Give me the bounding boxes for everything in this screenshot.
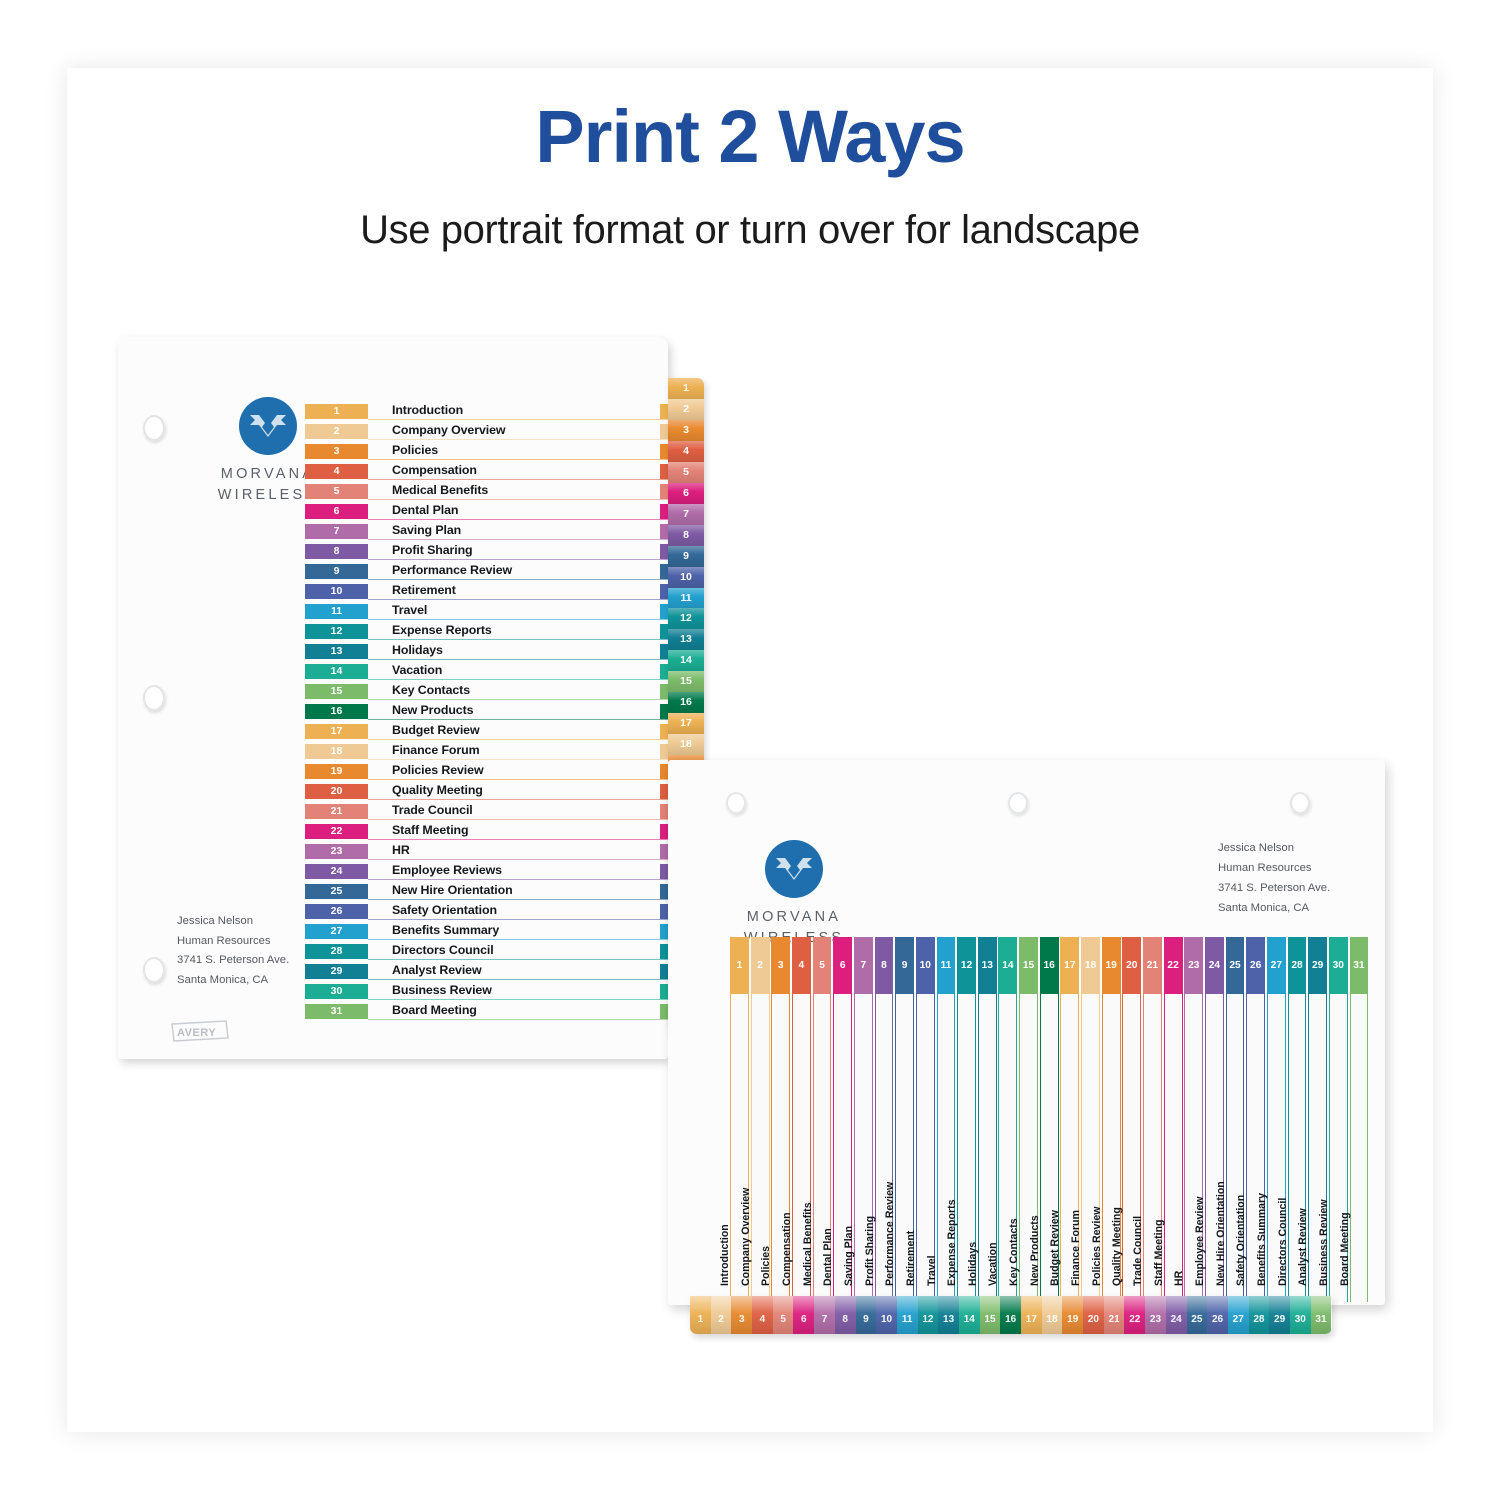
landscape-bottom-tab: 2 [711,1296,732,1334]
landscape-bottom-tab: 23 [1145,1296,1166,1334]
landscape-bottom-tab: 21 [1104,1296,1125,1334]
portrait-tab-number: 17 [680,717,692,729]
toc-row: 12Expense Reports [305,622,668,642]
toc-number-chip: 12 [305,624,368,639]
landscape-tab-label: Performance Review [884,982,896,1290]
toc-row: 28Directors Council [305,942,668,962]
landscape-bottom-tab: 11 [897,1296,918,1334]
portrait-tab: 4 [668,441,704,462]
landscape-bottom-tab: 29 [1269,1296,1290,1334]
landscape-bottom-tab: 26 [1207,1296,1228,1334]
toc-label: Medical Benefits [392,483,488,497]
contact-name: Jessica Nelson [1218,838,1330,858]
toc-number-chip: 13 [305,644,368,659]
portrait-tab: 13 [668,629,704,650]
toc-number-chip: 16 [305,704,368,719]
toc-label: Dental Plan [392,503,458,517]
toc-row: 13Holidays [305,642,668,662]
toc-number-chip: 19 [305,764,368,779]
landscape-bottom-tab-number: 25 [1191,1314,1202,1325]
landscape-bottom-tab: 30 [1290,1296,1311,1334]
toc-rule [368,539,668,540]
landscape-bottom-tab-number: 20 [1088,1314,1099,1325]
portrait-tab-number: 9 [683,550,689,562]
landscape-bottom-tab: 31 [1311,1296,1332,1334]
toc-rule [368,439,668,440]
landscape-bottom-tab-number: 11 [902,1314,913,1325]
landscape-tab-label: Company Overview [740,982,752,1290]
toc-rule [368,519,668,520]
portrait-tab-number: 10 [680,571,692,583]
landscape-tab-label: Board Meeting [1339,982,1351,1290]
toc-row: 17Budget Review [305,722,668,742]
landscape-tab-column: 31Board Meeting [1350,937,1369,1302]
landscape-tab-label: Key Contacts [1008,982,1020,1290]
toc-row: 18Finance Forum [305,742,668,762]
landscape-tab-label: Finance Forum [1070,982,1082,1290]
toc-rule [368,939,668,940]
toc-label: Quality Meeting [392,783,483,797]
toc-number-chip: 5 [305,484,368,499]
portrait-tab-number: 2 [683,403,689,415]
toc-rule [368,679,668,680]
toc-row: 10Retirement [305,582,668,602]
landscape-tab-label: Policies [760,982,772,1290]
landscape-bottom-tab-number: 9 [863,1314,869,1325]
landscape-bottom-tab-number: 23 [1150,1314,1161,1325]
toc-row: 26Safety Orientation [305,902,668,922]
toc-label: Analyst Review [392,963,482,977]
landscape-bottom-tab-number: 16 [1005,1314,1016,1325]
toc-label: Employee Reviews [392,863,502,877]
toc-label: Introduction [392,403,463,417]
landscape-bottom-tab: 7 [814,1296,835,1334]
landscape-tab-label: Staff Meeting [1153,982,1165,1290]
toc-rule [368,619,668,620]
portrait-tab: 2 [668,399,704,420]
toc-rule [368,919,668,920]
toc-number-chip: 29 [305,964,368,979]
toc-label: Directors Council [392,943,494,957]
landscape-tab-label: New Hire Orientation [1215,982,1227,1290]
toc-label: Performance Review [392,563,512,577]
landscape-bottom-tab-number: 30 [1295,1314,1306,1325]
landscape-tab-label: Dental Plan [822,982,834,1290]
toc-number-chip: 3 [305,444,368,459]
portrait-tab: 14 [668,650,704,671]
landscape-bottom-tab: 13 [938,1296,959,1334]
toc-number-chip: 14 [305,664,368,679]
morvana-logo-icon [239,397,297,455]
toc-rule [368,839,668,840]
landscape-bottom-tab: 4 [752,1296,773,1334]
landscape-tab-label: Saving Plan [843,982,855,1290]
landscape-tab-label: HR [1173,982,1185,1290]
portrait-tab-number: 7 [683,508,689,520]
toc-label: Safety Orientation [392,903,497,917]
toc-label: Vacation [392,663,442,677]
landscape-bottom-tab: 16 [1000,1296,1021,1334]
toc-label: Trade Council [392,803,473,817]
landscape-bottom-tab: 18 [1042,1296,1063,1334]
toc-label: Finance Forum [392,743,480,757]
landscape-bottom-tab: 17 [1021,1296,1042,1334]
toc-rule [368,719,668,720]
portrait-tab-number: 1 [683,382,689,394]
portrait-tab: 8 [668,525,704,546]
portrait-tab-number: 5 [683,466,689,478]
toc-label: Profit Sharing [392,543,473,557]
brand-logo-block: MORVANA WIRELESS [734,840,854,946]
toc-number-chip: 15 [305,684,368,699]
toc-number-chip: 8 [305,544,368,559]
toc-number-chip: 28 [305,944,368,959]
toc-label: Key Contacts [392,683,470,697]
landscape-bottom-tab: 20 [1083,1296,1104,1334]
toc-row: 22Staff Meeting [305,822,668,842]
toc-row: 11Travel [305,602,668,622]
toc-rule [368,859,668,860]
landscape-bottom-tab: 22 [1124,1296,1145,1334]
landscape-tab-number: 31 [1350,937,1369,994]
landscape-bottom-tab-strip: 1234567891011121314151617181920212223242… [690,1296,1332,1334]
toc-row: 6Dental Plan [305,502,668,522]
landscape-bottom-tab: 1 [690,1296,711,1334]
toc-number-chip: 27 [305,924,368,939]
toc-rule [368,819,668,820]
landscape-bottom-tab-number: 8 [842,1314,848,1325]
toc-rule [368,979,668,980]
toc-row: 1Introduction [305,402,668,422]
landscape-bottom-tab-number: 19 [1067,1314,1078,1325]
landscape-bottom-tab-number: 6 [801,1314,807,1325]
contact-name: Jessica Nelson [177,912,289,932]
landscape-bottom-tab-number: 3 [739,1314,745,1325]
toc-number-chip: 20 [305,784,368,799]
punch-hole [143,957,165,983]
landscape-tab-label: Introduction [719,982,731,1290]
portrait-tab: 5 [668,462,704,483]
landscape-bottom-tab-number: 5 [780,1314,786,1325]
toc-row: 21Trade Council [305,802,668,822]
toc-label: New Products [392,703,473,717]
punch-hole [1290,792,1310,814]
landscape-bottom-tab: 10 [876,1296,897,1334]
toc-number-chip: 25 [305,884,368,899]
toc-row: 30Business Review [305,982,668,1002]
toc-label: Compensation [392,463,477,477]
portrait-tab-number: 13 [680,633,692,645]
toc-label: HR [392,843,410,857]
landscape-bottom-tab-number: 28 [1253,1314,1264,1325]
landscape-bottom-tab-number: 29 [1274,1314,1285,1325]
landscape-bottom-tab-number: 13 [943,1314,954,1325]
toc-row: 8Profit Sharing [305,542,668,562]
landscape-bottom-tab-number: 14 [964,1314,975,1325]
toc-row: 7Saving Plan [305,522,668,542]
toc-row: 16New Products [305,702,668,722]
toc-rule [368,799,668,800]
landscape-divider-sheet: MORVANA WIRELESS Jessica Nelson Human Re… [668,760,1385,1305]
landscape-bottom-tab: 14 [959,1296,980,1334]
toc-label: Benefits Summary [392,923,499,937]
portrait-tab: 10 [668,567,704,588]
toc-number-chip: 1 [305,404,368,419]
toc-rule [368,959,668,960]
landscape-bottom-tab-number: 1 [698,1314,704,1325]
toc-row: 31Board Meeting [305,1002,668,1022]
contact-street: 3741 S. Peterson Ave. [177,951,289,971]
portrait-tab-number: 16 [680,696,692,708]
toc-rule [368,899,668,900]
toc-number-chip: 2 [305,424,368,439]
portrait-tab-number: 14 [680,654,692,666]
landscape-bottom-tab-number: 22 [1129,1314,1140,1325]
toc-rule [368,999,668,1000]
toc-label: Budget Review [392,723,480,737]
contact-city: Santa Monica, CA [177,971,289,991]
toc-rule [368,479,668,480]
landscape-bottom-tab-number: 17 [1026,1314,1037,1325]
portrait-tab: 16 [668,692,704,713]
toc-row: 5Medical Benefits [305,482,668,502]
toc-rule [368,599,668,600]
landscape-bottom-tab-number: 10 [881,1314,892,1325]
contact-department: Human Resources [177,932,289,952]
product-photo-canvas: Print 2 Ways Use portrait format or turn… [0,0,1500,1500]
toc-row: 2Company Overview [305,422,668,442]
portrait-tab-number: 8 [683,529,689,541]
toc-row: 27Benefits Summary [305,922,668,942]
toc-label: Expense Reports [392,623,492,637]
landscape-tab-label: Employee Review [1194,982,1206,1290]
landscape-bottom-tab-number: 27 [1233,1314,1244,1325]
toc-label: Holidays [392,643,443,657]
toc-label: Policies Review [392,763,483,777]
toc-row: 25New Hire Orientation [305,882,668,902]
contact-city: Santa Monica, CA [1218,898,1330,918]
landscape-tab-label: Quality Meeting [1111,982,1123,1290]
toc-row: 24Employee Reviews [305,862,668,882]
toc-label: Company Overview [392,423,505,437]
toc-label: Policies [392,443,438,457]
toc-row: 29Analyst Review [305,962,668,982]
landscape-tab-columns: 1Introduction2Company Overview3Policies4… [730,937,1370,1302]
table-of-contents: 1Introduction2Company Overview3Policies4… [305,402,668,1022]
landscape-tab-label: Business Review [1318,982,1330,1290]
toc-number-chip: 23 [305,844,368,859]
toc-number-chip: 31 [305,1004,368,1019]
toc-row: 9Performance Review [305,562,668,582]
landscape-bottom-tab-number: 12 [922,1314,933,1325]
landscape-bottom-tab: 27 [1228,1296,1249,1334]
toc-number-chip: 26 [305,904,368,919]
landscape-bottom-tab-number: 2 [718,1314,724,1325]
landscape-bottom-tab: 6 [793,1296,814,1334]
toc-row: 14Vacation [305,662,668,682]
toc-rule [368,579,668,580]
toc-number-chip: 22 [305,824,368,839]
punch-hole [726,792,746,814]
toc-number-chip: 4 [305,464,368,479]
landscape-tab-label: Directors Council [1277,982,1289,1290]
portrait-tab: 3 [668,420,704,441]
portrait-tab: 9 [668,546,704,567]
portrait-tab: 11 [668,588,704,609]
toc-label: Travel [392,603,427,617]
morvana-logo-icon [765,840,823,898]
portrait-tab-number: 12 [680,612,692,624]
toc-row: 19Policies Review [305,762,668,782]
landscape-tab-label: Compensation [781,982,793,1290]
landscape-tab-label: Retirement [905,982,917,1290]
toc-number-chip: 21 [305,804,368,819]
portrait-tab: 7 [668,504,704,525]
landscape-bottom-tab-number: 24 [1171,1314,1182,1325]
landscape-bottom-tab: 19 [1062,1296,1083,1334]
toc-number-chip: 24 [305,864,368,879]
punch-hole [143,685,165,711]
page-title: Print 2 Ways [0,100,1500,174]
toc-row: 3Policies [305,442,668,462]
toc-row: 4Compensation [305,462,668,482]
toc-label: Saving Plan [392,523,461,537]
landscape-bottom-tab: 8 [835,1296,856,1334]
toc-row: 23HR [305,842,668,862]
landscape-bottom-tab: 25 [1187,1296,1208,1334]
portrait-tab: 18 [668,734,704,755]
page-subtitle: Use portrait format or turn over for lan… [0,208,1500,253]
toc-row: 20Quality Meeting [305,782,668,802]
toc-row: 15Key Contacts [305,682,668,702]
landscape-bottom-tab: 9 [856,1296,877,1334]
landscape-bottom-tab: 15 [980,1296,1001,1334]
toc-rule [368,459,668,460]
landscape-tab-label: Vacation [987,982,999,1290]
toc-number-chip: 10 [305,584,368,599]
landscape-tab-label: Policies Review [1091,982,1103,1290]
toc-rule [368,759,668,760]
landscape-bottom-tab-number: 15 [984,1314,995,1325]
portrait-tab-number: 6 [683,487,689,499]
portrait-tab: 15 [668,671,704,692]
landscape-bottom-tab: 3 [731,1296,752,1334]
toc-number-chip: 11 [305,604,368,619]
portrait-divider-sheet: MORVANA WIRELESS 1Introduction2Company O… [118,337,668,1059]
landscape-bottom-tab: 28 [1249,1296,1270,1334]
landscape-tab-label: New Products [1029,982,1041,1290]
landscape-tab-label: Analyst Review [1297,982,1309,1290]
landscape-tab-label: Budget Review [1049,982,1061,1290]
toc-number-chip: 7 [305,524,368,539]
address-block: Jessica Nelson Human Resources 3741 S. P… [1218,838,1330,918]
landscape-tab-label: Medical Benefits [802,982,814,1290]
toc-label: New Hire Orientation [392,883,513,897]
toc-label: Staff Meeting [392,823,469,837]
portrait-tab: 17 [668,713,704,734]
toc-label: Retirement [392,583,456,597]
toc-rule [368,779,668,780]
toc-rule [368,419,668,420]
toc-number-chip: 9 [305,564,368,579]
portrait-tab: 6 [668,483,704,504]
landscape-tab-label: Holidays [967,982,979,1290]
landscape-tab-label: Benefits Summary [1256,982,1268,1290]
toc-rule [368,1019,668,1020]
portrait-tab-number: 3 [683,424,689,436]
toc-rule [368,559,668,560]
avery-logo-icon: AVERY [168,1018,232,1049]
landscape-tab-body: Board Meeting [1350,994,1369,1302]
portrait-tab-number: 11 [680,592,691,604]
portrait-tab: 12 [668,608,704,629]
portrait-tab: 1 [668,378,704,399]
punch-hole [1008,792,1028,814]
address-block: Jessica Nelson Human Resources 3741 S. P… [177,912,289,990]
toc-rule [368,699,668,700]
toc-number-chip: 30 [305,984,368,999]
landscape-bottom-tab-number: 4 [760,1314,766,1325]
landscape-bottom-tab-number: 21 [1109,1314,1120,1325]
toc-rule [368,739,668,740]
landscape-tab-label: Safety Orientation [1235,982,1247,1290]
portrait-tab-number: 15 [680,675,692,687]
brand-name-line1: MORVANA [734,909,854,925]
portrait-tab-number: 4 [683,445,689,457]
toc-rule [368,879,668,880]
landscape-tab-label: Trade Council [1132,982,1144,1290]
toc-rule [368,659,668,660]
punch-hole [143,415,165,441]
landscape-bottom-tab-number: 18 [1046,1314,1057,1325]
toc-rule [368,499,668,500]
svg-text:AVERY: AVERY [177,1027,216,1039]
toc-number-chip: 18 [305,744,368,759]
contact-department: Human Resources [1218,858,1330,878]
portrait-tab-number: 18 [680,738,692,750]
landscape-tab-label: Expense Reports [946,982,958,1290]
landscape-bottom-tab: 24 [1166,1296,1187,1334]
landscape-tab-label: Profit Sharing [864,982,876,1290]
landscape-bottom-tab: 12 [918,1296,939,1334]
landscape-bottom-tab-number: 26 [1212,1314,1223,1325]
toc-number-chip: 6 [305,504,368,519]
landscape-bottom-tab-number: 31 [1315,1314,1326,1325]
toc-rule [368,639,668,640]
toc-number-chip: 17 [305,724,368,739]
landscape-tab-label: Travel [926,982,938,1290]
toc-label: Board Meeting [392,1003,477,1017]
landscape-bottom-tab: 5 [773,1296,794,1334]
contact-street: 3741 S. Peterson Ave. [1218,878,1330,898]
landscape-bottom-tab-number: 7 [822,1314,828,1325]
toc-label: Business Review [392,983,492,997]
